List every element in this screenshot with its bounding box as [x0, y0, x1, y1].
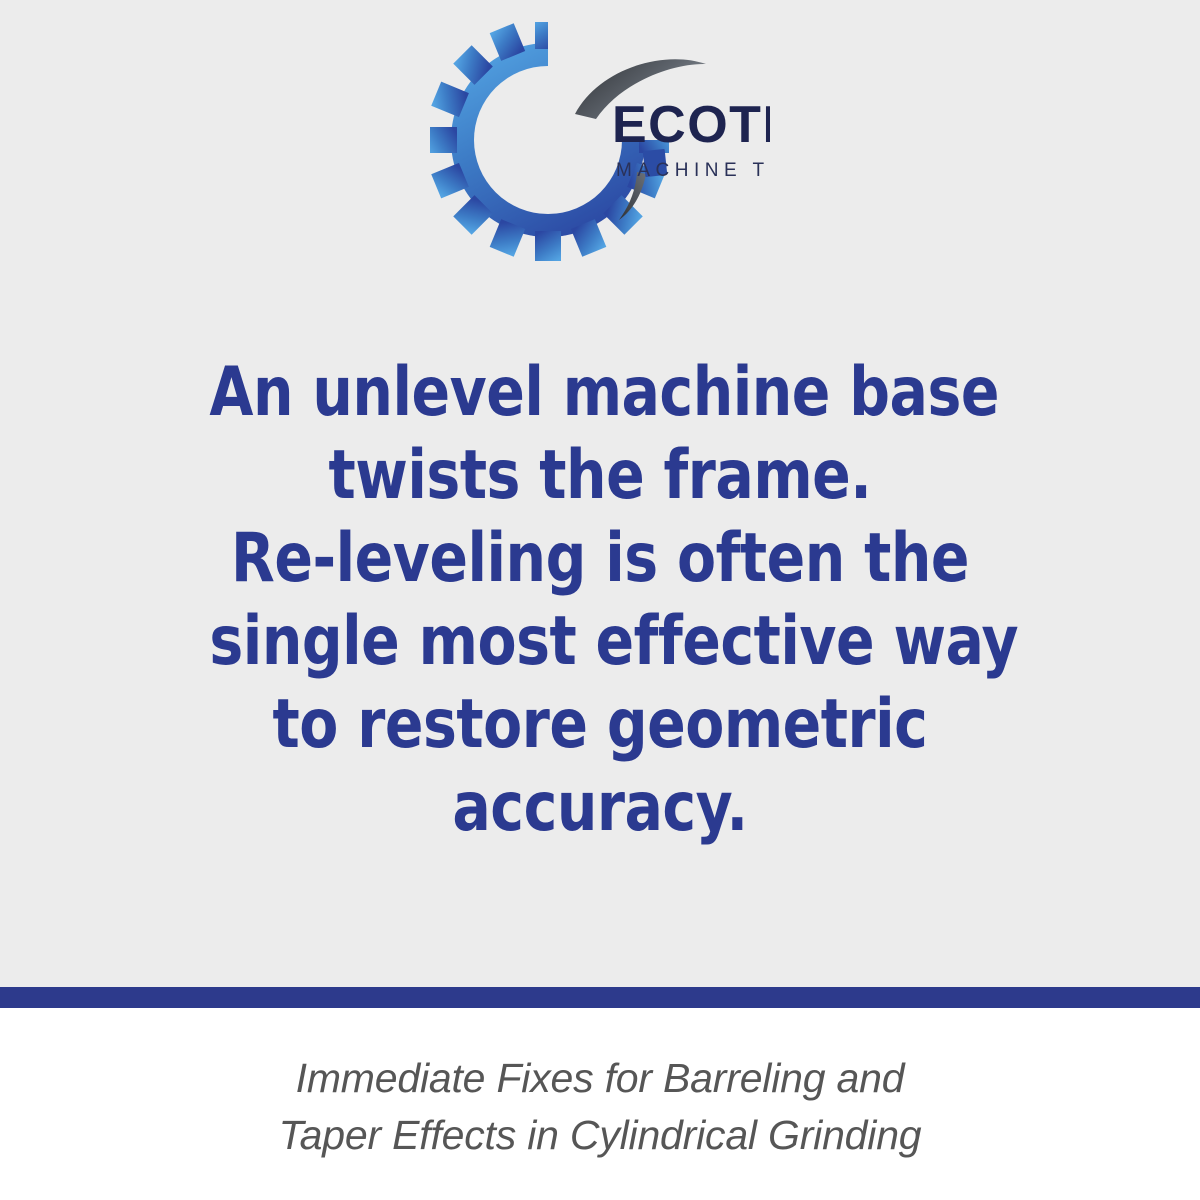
social-card: ECOTECH MACHINE TOOL An unlevel machine … — [0, 0, 1200, 1200]
content-panel: ECOTECH MACHINE TOOL An unlevel machine … — [0, 0, 1200, 987]
headline-line-5: to restore geometric — [209, 684, 990, 767]
headline-line-2: twists the frame. — [209, 435, 990, 518]
caption-line-1: Immediate Fixes for Barreling and — [160, 1050, 1040, 1107]
brand-logo: ECOTECH MACHINE TOOL — [430, 22, 770, 274]
headline-line-3: Re-leveling is often the — [209, 518, 990, 601]
logo-tagline: MACHINE TOOL — [616, 160, 770, 181]
headline: An unlevel machine base twists the frame… — [209, 352, 990, 850]
logo-wordmark: ECOTECH — [612, 96, 770, 154]
footer-strip: Immediate Fixes for Barreling and Taper … — [0, 1008, 1200, 1200]
headline-line-1: An unlevel machine base — [209, 352, 990, 435]
article-title-caption: Immediate Fixes for Barreling and Taper … — [160, 1050, 1040, 1163]
headline-line-4: single most effective way — [209, 601, 990, 684]
headline-line-6: accuracy. — [209, 767, 990, 850]
caption-line-2: Taper Effects in Cylindrical Grinding — [160, 1107, 1040, 1164]
accent-divider-bar — [0, 987, 1200, 1008]
gear-swoosh-logo: ECOTECH MACHINE TOOL — [430, 22, 770, 274]
